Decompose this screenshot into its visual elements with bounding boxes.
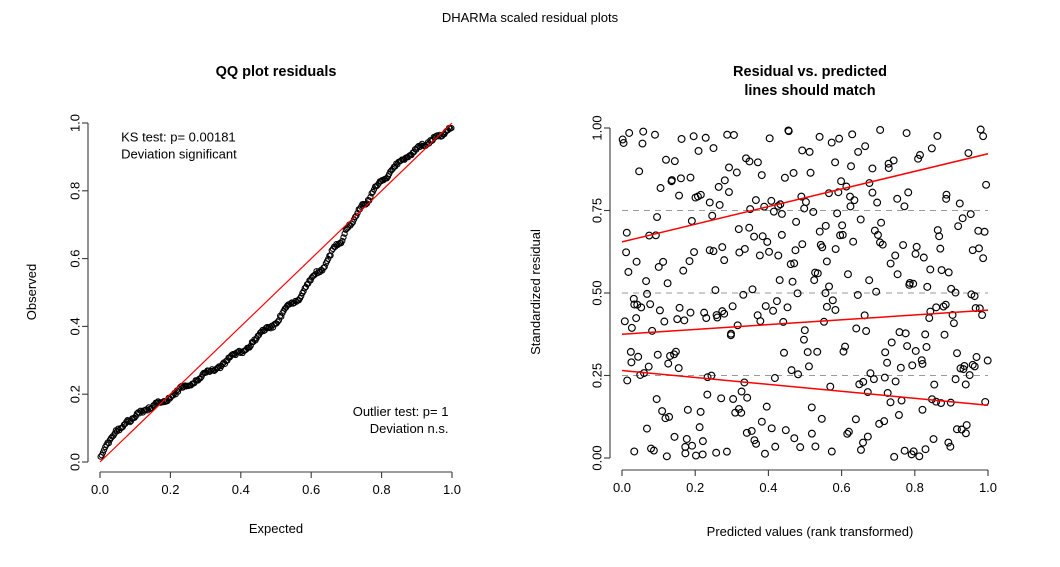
residual-data-point <box>683 436 690 443</box>
residual-data-point <box>892 378 899 385</box>
residual-data-point <box>818 415 825 422</box>
qq-annotation-1: Deviation significant <box>121 147 237 162</box>
residual-data-point <box>792 247 799 254</box>
residual-data-point <box>709 212 716 219</box>
residual-data-point <box>644 425 651 432</box>
residual-data-point <box>888 339 895 346</box>
residual-data-point <box>851 197 858 204</box>
residual-data-point <box>663 156 670 163</box>
residual-data-point <box>719 244 726 251</box>
residual-data-point <box>923 344 930 351</box>
residual-data-point <box>640 128 647 135</box>
residual-data-point <box>706 199 713 206</box>
residual-data-point <box>713 449 720 456</box>
residual-data-point <box>896 329 903 336</box>
y-tick-label: 0.2 <box>67 385 82 403</box>
residual-data-point <box>965 150 972 157</box>
residual-data-point <box>643 278 650 285</box>
residual-data-point <box>653 396 660 403</box>
residual-data-point <box>832 159 839 166</box>
residual-data-point <box>873 288 880 295</box>
x-tick-label: 0.6 <box>302 482 320 497</box>
residual-data-point <box>822 222 829 229</box>
residual-data-point <box>864 433 871 440</box>
residual-data-point <box>744 394 751 401</box>
residual-data-point <box>962 430 969 437</box>
residual-data-point <box>788 367 795 374</box>
y-tick-label: 0.50 <box>589 280 604 305</box>
residual-data-point <box>660 258 667 265</box>
residual-data-point <box>801 205 808 212</box>
residual-data-point <box>726 164 733 171</box>
residual-data-point <box>919 406 926 413</box>
residual-data-point <box>810 209 817 216</box>
residual-plot-title-line2: lines should match <box>744 83 875 99</box>
residual-data-point <box>682 450 689 457</box>
residual-data-point <box>924 283 931 290</box>
residual-data-point <box>983 181 990 188</box>
residual-data-point <box>845 271 852 278</box>
residual-data-point <box>808 404 815 411</box>
residual-data-point <box>853 325 860 332</box>
residual-data-point <box>816 133 823 140</box>
x-tick-label: 0.8 <box>373 482 391 497</box>
residual-data-point <box>715 183 722 190</box>
y-tick-label: 1.00 <box>589 115 604 140</box>
residual-data-point <box>675 365 682 372</box>
residual-data-point <box>814 348 821 355</box>
residual-data-point <box>633 315 640 322</box>
residual-data-point <box>789 278 796 285</box>
residual-data-point <box>649 327 656 334</box>
residual-data-point <box>730 396 737 403</box>
residual-data-point <box>628 324 635 331</box>
residual-data-point <box>647 301 654 308</box>
residual-data-point <box>973 354 980 361</box>
residual-data-point <box>860 439 867 446</box>
x-tick-label: 1.0 <box>443 482 461 497</box>
qq-y-axis-label: Observed <box>24 264 39 320</box>
residual-data-point <box>731 132 738 139</box>
x-tick-label: 0.8 <box>906 480 924 495</box>
qq-annotation-3: Deviation n.s. <box>370 421 449 436</box>
residual-data-point <box>903 130 910 137</box>
residual-data-point <box>979 312 986 319</box>
residual-data-point <box>782 174 789 181</box>
residual-data-point <box>874 199 881 206</box>
residual-data-point <box>678 136 685 143</box>
residual-data-point <box>826 283 833 290</box>
residual-data-point <box>766 135 773 142</box>
residual-data-point <box>955 223 962 230</box>
residual-plot-title-line1: Residual vs. predicted <box>733 64 887 80</box>
residual-data-point <box>766 248 773 255</box>
residual-data-point <box>900 242 907 249</box>
residual-data-point <box>768 425 775 432</box>
residual-data-point <box>797 444 804 451</box>
residual-data-point <box>801 336 808 343</box>
residual-data-point <box>686 258 693 265</box>
residual-data-point <box>936 233 943 240</box>
residual-data-point <box>645 363 652 370</box>
residual-data-point <box>775 252 782 259</box>
residual-data-point <box>659 408 666 415</box>
residual-data-point <box>790 170 797 177</box>
residual-data-point <box>858 447 865 454</box>
residual-data-point <box>838 178 845 185</box>
residual-data-point <box>678 175 685 182</box>
residual-data-point <box>735 226 742 233</box>
residual-plot-axes: 0.000.250.500.751.000.00.20.40.60.81.0 <box>589 115 997 495</box>
residual-data-point <box>758 172 765 179</box>
residual-data-point <box>657 185 664 192</box>
residual-data-point <box>869 165 876 172</box>
residual-x-axis-label: Predicted values (rank transformed) <box>707 524 914 539</box>
residual-data-point <box>885 165 892 172</box>
residual-data-point <box>844 430 851 437</box>
qq-annotation-0: KS test: p= 0.00181 <box>121 130 236 145</box>
residual-data-point <box>627 349 634 356</box>
qq-plot-panel: QQ plot residuals 0.00.20.40.60.81.00.00… <box>24 64 461 536</box>
residual-data-point <box>663 453 670 460</box>
residual-data-point <box>832 307 839 314</box>
residual-data-point <box>894 271 901 278</box>
residual-data-point <box>891 453 898 460</box>
residual-data-point <box>644 291 651 298</box>
residual-data-point <box>839 222 846 229</box>
residual-data-point <box>729 303 736 310</box>
x-tick-label: 0.2 <box>161 482 179 497</box>
residual-data-point <box>819 244 826 251</box>
residual-data-point <box>799 241 806 248</box>
residual-data-point <box>878 219 885 226</box>
residual-data-point <box>834 210 841 217</box>
residual-data-point <box>770 307 777 314</box>
residual-data-point <box>828 448 835 455</box>
x-tick-label: 0.4 <box>759 480 777 495</box>
residual-data-point <box>804 349 811 356</box>
residual-data-point <box>969 361 976 368</box>
residual-data-point <box>695 148 702 155</box>
residual-data-point <box>882 349 889 356</box>
y-tick-label: 0.6 <box>67 250 82 268</box>
residual-data-point <box>721 257 728 264</box>
y-tick-label: 0.0 <box>67 453 82 471</box>
residual-data-point <box>636 168 643 175</box>
residual-data-point <box>890 157 897 164</box>
residual-data-point <box>954 350 961 357</box>
residual-data-point <box>922 331 929 338</box>
residual-data-point <box>863 328 870 335</box>
residual-data-point <box>829 297 836 304</box>
residual-data-point <box>808 430 815 437</box>
residual-data-point <box>793 218 800 225</box>
residual-data-point <box>975 227 982 234</box>
residual-data-point <box>724 448 731 455</box>
residual-data-point <box>847 203 854 210</box>
residual-data-point <box>894 195 901 202</box>
residual-data-point <box>931 381 938 388</box>
residual-data-point <box>758 418 765 425</box>
x-tick-label: 0.0 <box>613 480 631 495</box>
residual-data-point <box>751 233 758 240</box>
residual-data-point <box>734 322 741 329</box>
residual-data-point <box>654 351 661 358</box>
residual-data-point <box>896 412 903 419</box>
figure-canvas: DHARMa scaled residual plots QQ plot res… <box>0 0 1060 567</box>
residual-data-point <box>762 450 769 457</box>
residual-data-point <box>977 126 984 133</box>
residual-data-point <box>956 200 963 207</box>
residual-data-point <box>657 307 664 314</box>
residual-data-point <box>791 435 798 442</box>
x-tick-label: 1.0 <box>979 480 997 495</box>
y-tick-label: 0.25 <box>589 363 604 388</box>
residual-data-point <box>916 453 923 460</box>
residual-data-point <box>628 359 635 366</box>
residual-data-point <box>816 228 823 235</box>
y-tick-label: 0.75 <box>589 198 604 223</box>
residual-data-point <box>801 327 808 334</box>
residual-data-point <box>849 131 856 138</box>
residual-data-point <box>700 438 707 445</box>
residual-data-point <box>920 254 927 261</box>
residual-data-point <box>850 238 857 245</box>
residual-data-point <box>661 318 668 325</box>
residual-data-point <box>959 215 966 222</box>
residual-data-point <box>887 399 894 406</box>
residual-data-point <box>806 363 813 370</box>
residual-data-point <box>755 159 762 166</box>
y-tick-label: 1.0 <box>67 114 82 132</box>
residual-data-point <box>631 448 638 455</box>
dharma-plot-figure: DHARMa scaled residual plots QQ plot res… <box>0 0 1060 567</box>
residual-data-point <box>697 409 704 416</box>
residual-data-point <box>901 447 908 454</box>
residual-data-point <box>847 193 854 200</box>
residual-data-point <box>671 433 678 440</box>
residual-data-point <box>811 277 818 284</box>
residual-data-point <box>689 442 696 449</box>
residual-data-point <box>984 357 991 364</box>
residual-data-point <box>941 331 948 338</box>
residual-data-point <box>857 216 864 223</box>
residual-data-point <box>933 304 940 311</box>
residual-data-point <box>928 145 935 152</box>
residual-data-point <box>934 133 941 140</box>
residual-data-point <box>635 353 642 360</box>
residual-data-point <box>699 451 706 458</box>
residual-data-point <box>836 135 843 142</box>
residual-data-point <box>721 177 728 184</box>
residual-data-point <box>806 148 813 155</box>
residual-data-point <box>779 211 786 218</box>
residual-data-point <box>782 427 789 434</box>
residual-data-point <box>877 127 884 134</box>
residual-data-point <box>812 443 819 450</box>
residual-data-point <box>898 397 905 404</box>
residual-data-point <box>807 169 814 176</box>
residual-data-point <box>674 316 681 323</box>
residual-data-point <box>951 320 958 327</box>
residual-data-point <box>690 133 697 140</box>
residual-data-point <box>654 214 661 221</box>
residual-data-point <box>930 436 937 443</box>
residual-data-point <box>952 376 959 383</box>
residual-data-point <box>746 224 753 231</box>
y-tick-label: 0.8 <box>67 182 82 200</box>
residual-data-point <box>897 364 904 371</box>
residual-data-point <box>665 360 672 367</box>
residual-data-point <box>981 228 988 235</box>
residual-data-point <box>945 269 952 276</box>
residual-data-point <box>626 130 633 137</box>
residual-data-point <box>832 246 839 253</box>
residual-data-point <box>676 192 683 199</box>
residual-data-point <box>967 211 974 218</box>
residual-data-point <box>623 249 630 256</box>
residual-data-point <box>772 443 779 450</box>
residual-data-point <box>852 416 859 423</box>
residual-data-point <box>892 252 899 259</box>
residual-data-point <box>922 446 929 453</box>
residual-data-point <box>702 134 709 141</box>
residual-data-point <box>937 245 944 252</box>
residual-data-point <box>901 203 908 210</box>
residual-data-point <box>726 189 733 196</box>
residual-data-point <box>664 280 671 287</box>
residual-data-point <box>724 131 731 138</box>
residual-data-point <box>763 403 770 410</box>
residual-data-point <box>869 189 876 196</box>
residual-data-point <box>639 140 646 147</box>
residual-data-point <box>799 147 806 154</box>
residual-data-point <box>682 444 689 451</box>
residual-data-point <box>738 388 745 395</box>
residual-data-point <box>971 363 978 370</box>
residual-data-point <box>667 353 674 360</box>
residual-data-point <box>624 377 631 384</box>
qq-annotation-2: Outlier test: p= 1 <box>353 404 449 419</box>
residual-data-point <box>905 189 912 196</box>
residual-y-axis-label: Standardized residual <box>528 229 543 355</box>
residual-data-point <box>696 424 703 431</box>
residual-data-point <box>749 286 756 293</box>
residual-data-point <box>687 174 694 181</box>
residual-data-point <box>963 422 970 429</box>
figure-main-title: DHARMa scaled residual plots <box>442 10 619 25</box>
residual-data-point <box>913 243 920 250</box>
residual-data-point <box>776 277 783 284</box>
x-tick-label: 0.2 <box>686 480 704 495</box>
residual-data-point <box>962 381 969 388</box>
residual-data-point <box>866 277 873 284</box>
residual-data-point <box>676 304 683 311</box>
residual-data-point <box>774 298 781 305</box>
residual-data-point <box>733 169 740 176</box>
residual-data-point <box>688 218 695 225</box>
residual-data-point <box>621 318 628 325</box>
residual-data-point <box>671 158 678 165</box>
residual-data-point <box>680 267 687 274</box>
residual-data-point <box>756 252 763 259</box>
residual-data-point <box>784 304 791 311</box>
residual-data-point <box>633 258 640 265</box>
residual-data-point <box>828 139 835 146</box>
residual-data-point <box>762 303 769 310</box>
residual-data-point <box>764 238 771 245</box>
residual-data-point <box>693 452 700 459</box>
residual-data-point <box>741 246 748 253</box>
y-tick-label: 0.4 <box>67 317 82 335</box>
x-tick-label: 0.0 <box>91 482 109 497</box>
residual-data-point <box>902 330 909 337</box>
residual-data-point <box>827 383 834 390</box>
residual-data-point <box>862 143 869 150</box>
residual-data-point <box>795 371 802 378</box>
x-tick-label: 0.6 <box>833 480 851 495</box>
residual-data-point <box>871 376 878 383</box>
residual-data-point <box>625 269 632 276</box>
residual-data-point <box>740 291 747 298</box>
residual-data-point <box>845 428 852 435</box>
residual-data-point <box>980 255 987 262</box>
y-tick-label: 0.00 <box>589 445 604 470</box>
residual-data-point <box>926 315 933 322</box>
residual-data-point <box>980 133 987 140</box>
residual-data-point <box>881 374 888 381</box>
residual-data-point <box>704 391 711 398</box>
residual-data-point <box>718 395 725 402</box>
residual-data-point <box>752 197 759 204</box>
residual-data-point <box>684 406 691 413</box>
residual-data-point <box>772 375 779 382</box>
residual-data-point <box>716 202 723 209</box>
residual-data-point <box>687 309 694 316</box>
residual-data-point <box>912 348 919 355</box>
residual-data-point <box>976 245 983 252</box>
qq-plot-annotations: KS test: p= 0.00181Deviation significant… <box>121 130 448 437</box>
residual-data-point <box>768 197 775 204</box>
residual-data-point <box>778 231 785 238</box>
residual-plot-quantile-lines <box>622 154 988 405</box>
residual-data-point <box>855 149 862 156</box>
residual-data-point <box>691 249 698 256</box>
residual-data-point <box>909 362 916 369</box>
residual-data-point <box>823 258 830 265</box>
residual-data-point <box>681 317 688 324</box>
residual-data-point <box>927 266 934 273</box>
residual-data-point <box>912 251 919 258</box>
residual-data-point <box>904 343 911 350</box>
residual-data-point <box>623 229 630 236</box>
residual-data-point <box>781 349 788 356</box>
residual-data-point <box>757 318 764 325</box>
residual-data-point <box>947 443 954 450</box>
qq-x-axis-label: Expected <box>249 521 303 536</box>
x-tick-label: 0.4 <box>232 482 250 497</box>
residual-plot-panel: Residual vs. predicted lines should matc… <box>528 64 997 539</box>
residual-data-point <box>848 163 855 170</box>
residual-data-point <box>803 199 810 206</box>
residual-data-point <box>884 359 891 366</box>
residual-data-point <box>824 303 831 310</box>
residual-data-point <box>652 131 659 138</box>
residual-data-point <box>943 191 950 198</box>
residual-data-point <box>938 267 945 274</box>
qq-plot-title: QQ plot residuals <box>216 64 337 80</box>
residual-data-point <box>945 439 952 446</box>
